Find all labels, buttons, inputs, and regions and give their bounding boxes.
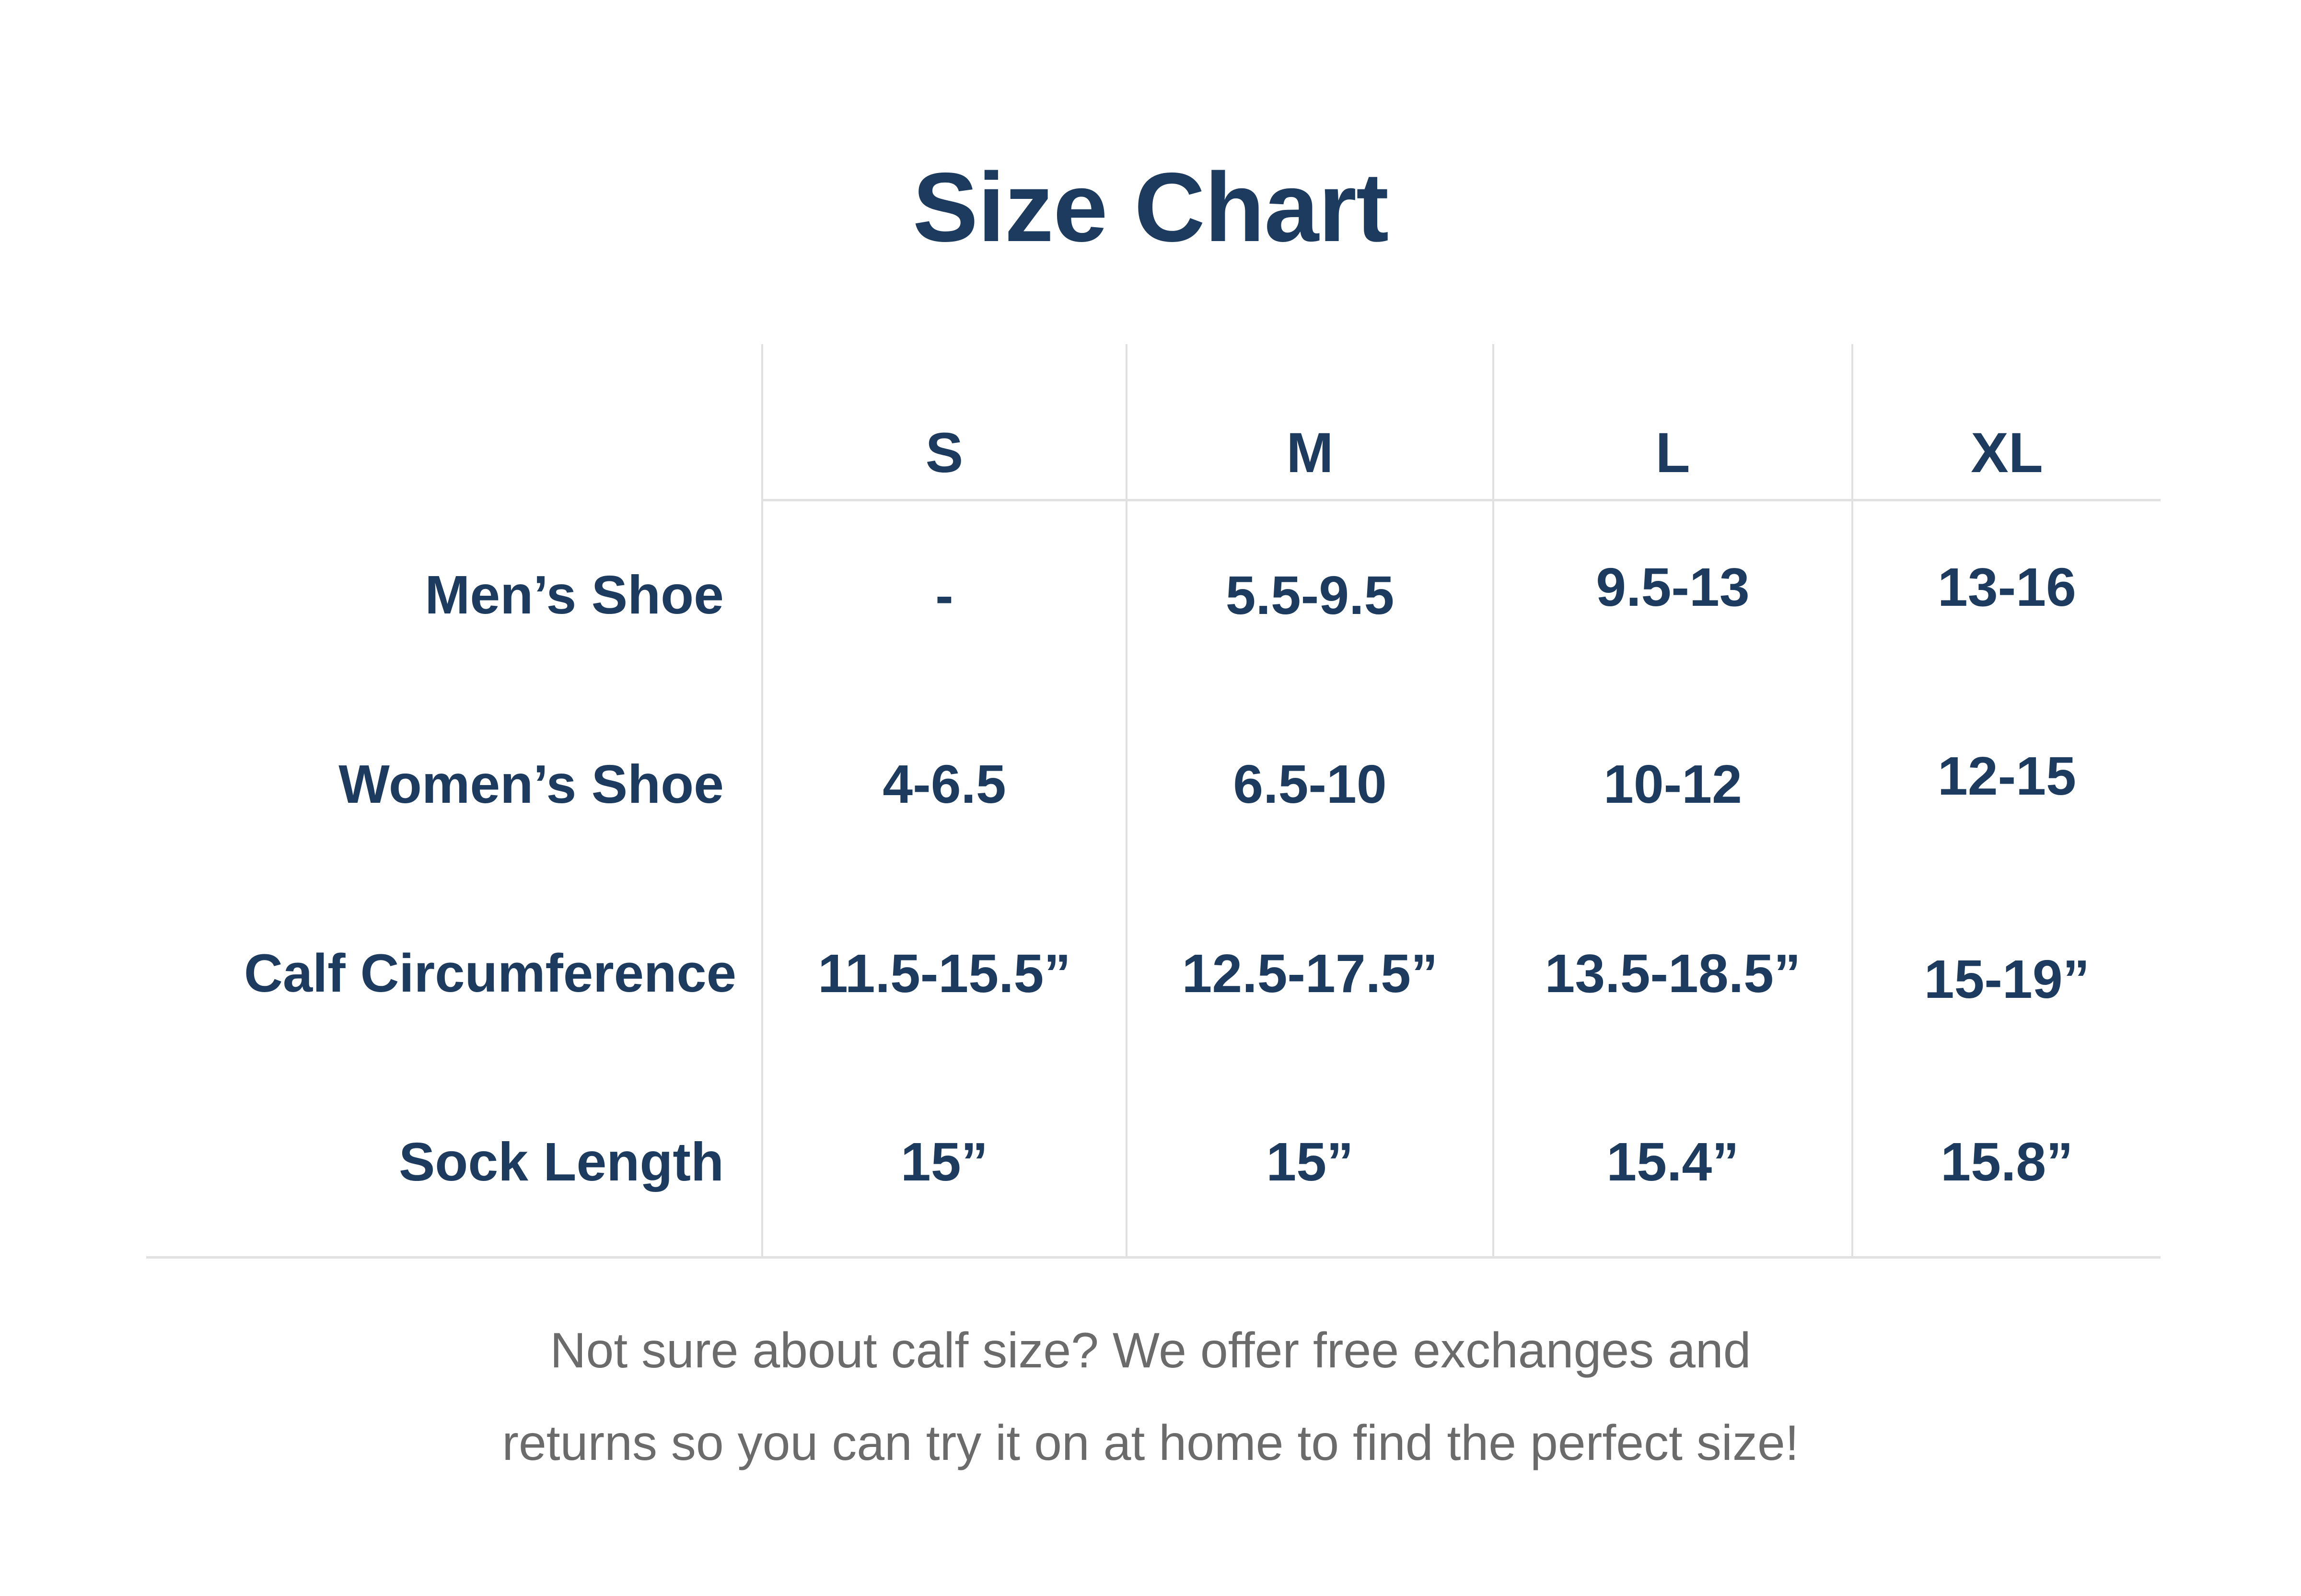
cell-womens-shoe-xl: 12-15 (1852, 689, 2161, 879)
row-label-calf-circumference: Calf Circumference (146, 879, 762, 1068)
size-chart-table: S M L XL Men’s Shoe - 5.5-9.5 9.5-13 13-… (146, 344, 2161, 1259)
cell-sock-length-s: 15” (762, 1068, 1127, 1257)
cell-sock-length-m: 15” (1127, 1068, 1493, 1257)
column-header-l: L (1493, 344, 1852, 500)
cell-calf-circumference-l: 13.5-18.5” (1493, 879, 1852, 1068)
table-header-row: S M L XL (146, 344, 2161, 500)
cell-mens-shoe-xl: 13-16 (1852, 500, 2161, 689)
footer-note-line-1: Not sure about calf size? We offer free … (0, 1305, 2301, 1397)
footer-note: Not sure about calf size? We offer free … (0, 1305, 2301, 1490)
row-label-sock-length: Sock Length (146, 1068, 762, 1257)
column-header-s: S (762, 344, 1127, 500)
cell-mens-shoe-l: 9.5-13 (1493, 500, 1852, 689)
table-row: Calf Circumference 11.5-15.5” 12.5-17.5”… (146, 879, 2161, 1068)
cell-mens-shoe-s: - (762, 500, 1127, 689)
cell-calf-circumference-xl: 15-19” (1852, 879, 2161, 1068)
table-row: Women’s Shoe 4-6.5 6.5-10 10-12 12-15 (146, 689, 2161, 879)
table-row: Sock Length 15” 15” 15.4” 15.8” (146, 1068, 2161, 1257)
cell-mens-shoe-m: 5.5-9.5 (1127, 500, 1493, 689)
cell-womens-shoe-s: 4-6.5 (762, 689, 1127, 879)
page-title: Size Chart (0, 158, 2301, 256)
table-row: Men’s Shoe - 5.5-9.5 9.5-13 13-16 (146, 500, 2161, 689)
table-corner-cell (146, 344, 762, 500)
row-label-womens-shoe: Women’s Shoe (146, 689, 762, 879)
cell-sock-length-l: 15.4” (1493, 1068, 1852, 1257)
size-chart-page: Size Chart S M L XL Men’s Shoe (0, 0, 2301, 1596)
cell-womens-shoe-l: 10-12 (1493, 689, 1852, 879)
cell-calf-circumference-m: 12.5-17.5” (1127, 879, 1493, 1068)
column-header-m: M (1127, 344, 1493, 500)
cell-calf-circumference-s: 11.5-15.5” (762, 879, 1127, 1068)
cell-sock-length-xl: 15.8” (1852, 1068, 2161, 1257)
row-label-mens-shoe: Men’s Shoe (146, 500, 762, 689)
size-chart-table-wrapper: S M L XL Men’s Shoe - 5.5-9.5 9.5-13 13-… (146, 344, 2161, 1259)
cell-womens-shoe-m: 6.5-10 (1127, 689, 1493, 879)
footer-note-line-2: returns so you can try it on at home to … (0, 1397, 2301, 1490)
column-header-xl: XL (1852, 344, 2161, 500)
